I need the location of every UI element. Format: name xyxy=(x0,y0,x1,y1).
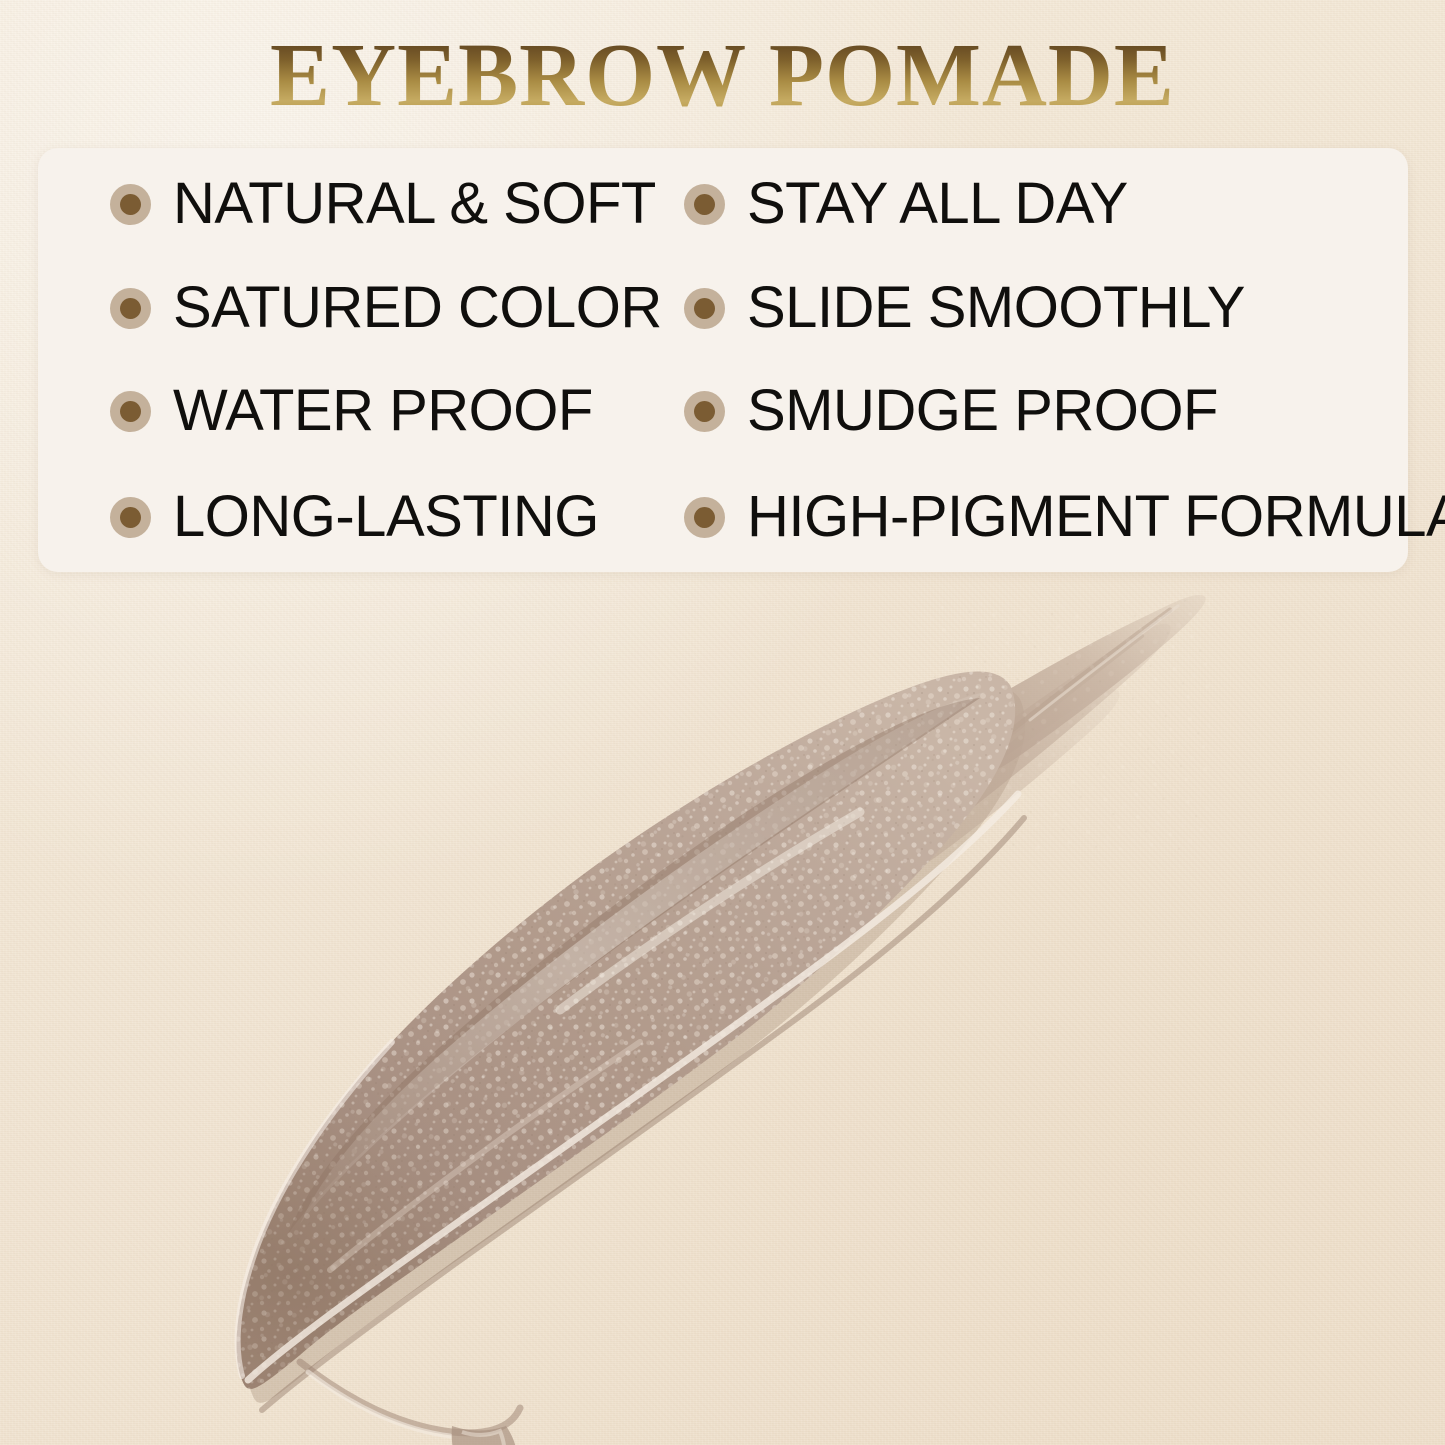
feature-item-water-proof: WATER PROOF xyxy=(110,381,593,441)
bullet-dot-inner-icon xyxy=(694,507,715,528)
feature-item-satured-color: SATURED COLOR xyxy=(110,278,662,338)
product-feature-poster: EYEBROW POMADE NATURAL & SOFT SATURED CO… xyxy=(0,0,1445,1445)
swatch-body xyxy=(0,580,1445,1445)
feature-item-stay-all-day: STAY ALL DAY xyxy=(684,174,1128,234)
feature-label: NATURAL & SOFT xyxy=(173,174,656,234)
feature-label: SMUDGE PROOF xyxy=(747,381,1218,441)
feature-column-left: NATURAL & SOFT SATURED COLOR WATER PROOF… xyxy=(110,148,710,572)
bullet-dot-icon xyxy=(684,288,725,329)
page-title: EYEBROW POMADE xyxy=(0,24,1445,128)
feature-column-right: STAY ALL DAY SLIDE SMOOTHLY SMUDGE PROOF… xyxy=(684,148,1404,572)
bullet-dot-icon xyxy=(684,497,725,538)
feature-item-high-pigment-formula: HIGH-PIGMENT FORMULA xyxy=(684,487,1445,547)
bullet-dot-icon xyxy=(110,288,151,329)
feature-label: STAY ALL DAY xyxy=(747,174,1128,234)
bullet-dot-icon xyxy=(110,497,151,538)
feature-label: LONG-LASTING xyxy=(173,487,599,547)
bullet-dot-inner-icon xyxy=(120,298,141,319)
feature-label: HIGH-PIGMENT FORMULA xyxy=(747,487,1445,547)
feature-item-smudge-proof: SMUDGE PROOF xyxy=(684,381,1218,441)
feature-label: SLIDE SMOOTHLY xyxy=(747,278,1245,338)
feature-item-slide-smoothly: SLIDE SMOOTHLY xyxy=(684,278,1245,338)
bullet-dot-icon xyxy=(684,184,725,225)
bullet-dot-inner-icon xyxy=(694,194,715,215)
bullet-dot-inner-icon xyxy=(120,194,141,215)
pomade-smear-graphic xyxy=(0,580,1445,1445)
bullet-dot-icon xyxy=(684,391,725,432)
feature-item-long-lasting: LONG-LASTING xyxy=(110,487,599,547)
bullet-dot-inner-icon xyxy=(694,401,715,422)
bullet-dot-icon xyxy=(110,391,151,432)
feature-label: WATER PROOF xyxy=(173,381,593,441)
bullet-dot-inner-icon xyxy=(694,298,715,319)
product-swatch-image xyxy=(0,580,1445,1445)
feature-item-natural-soft: NATURAL & SOFT xyxy=(110,174,656,234)
bullet-dot-inner-icon xyxy=(120,507,141,528)
feature-list-card: NATURAL & SOFT SATURED COLOR WATER PROOF… xyxy=(38,148,1408,572)
bullet-dot-icon xyxy=(110,184,151,225)
bullet-dot-inner-icon xyxy=(120,401,141,422)
feature-label: SATURED COLOR xyxy=(173,278,662,338)
